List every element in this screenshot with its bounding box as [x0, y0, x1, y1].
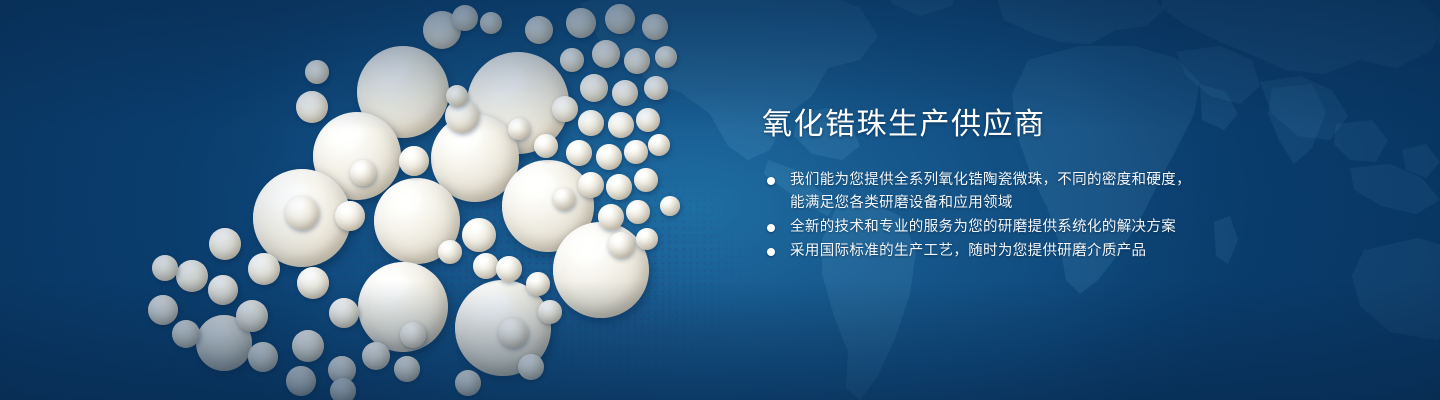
- list-item-line-1: 我们能为您提供全系列氧化锆陶瓷微珠，不同的密度和硬度，: [790, 172, 1191, 188]
- hero-banner: 氧化锆珠生产供应商 我们能为您提供全系列氧化锆陶瓷微珠，不同的密度和硬度， 能满…: [0, 0, 1440, 400]
- bullet-dot-icon: [767, 177, 775, 185]
- feature-list: 我们能为您提供全系列氧化锆陶瓷微珠，不同的密度和硬度， 能满足您各类研磨设备和应…: [762, 169, 1232, 263]
- page-title: 氧化锆珠生产供应商: [762, 106, 1232, 144]
- bullet-dot-icon: [767, 224, 775, 232]
- list-item-line-2: 能满足您各类研磨设备和应用领域: [790, 192, 1232, 215]
- list-item: 采用国际标准的生产工艺，随时为您提供研磨介质产品: [762, 240, 1232, 263]
- list-item: 我们能为您提供全系列氧化锆陶瓷微珠，不同的密度和硬度， 能满足您各类研磨设备和应…: [762, 169, 1232, 215]
- list-item-line-1: 采用国际标准的生产工艺，随时为您提供研磨介质产品: [790, 243, 1146, 259]
- background-bottom-shade: [0, 280, 1440, 400]
- banner-text-block: 氧化锆珠生产供应商 我们能为您提供全系列氧化锆陶瓷微珠，不同的密度和硬度， 能满…: [762, 106, 1232, 264]
- bullet-dot-icon: [767, 248, 775, 256]
- list-item: 全新的技术和专业的服务为您的研磨提供系统化的解决方案: [762, 216, 1232, 239]
- list-item-line-1: 全新的技术和专业的服务为您的研磨提供系统化的解决方案: [790, 219, 1176, 235]
